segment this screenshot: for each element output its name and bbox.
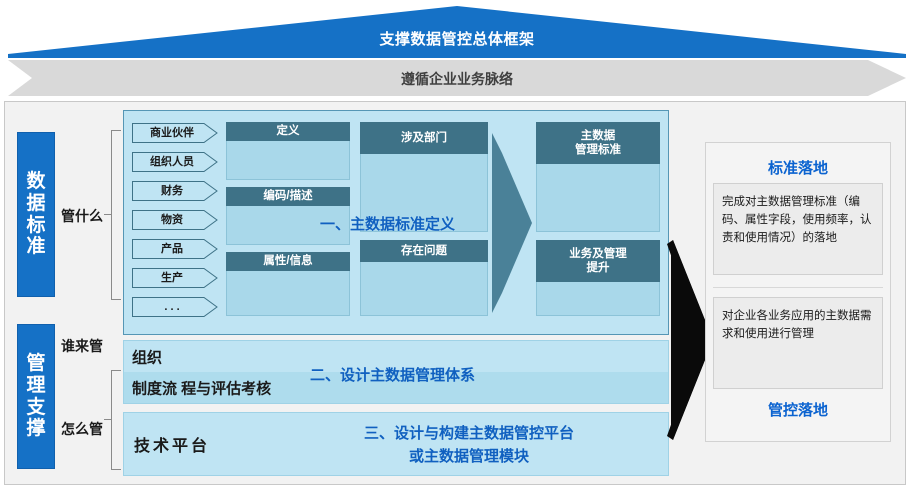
outcome-body-standard: 完成对主数据管理标准（编码、属性字段，使用频率，认责和使用情况）的落地 (713, 183, 883, 275)
block-attribute-info-header: 属性/信息 (226, 252, 350, 271)
overlay-line-2: 或主数据管理模块 (284, 446, 654, 469)
bracket-what (111, 130, 121, 300)
arrow-item[interactable]: 物资 (132, 210, 218, 230)
main-diagram-frame: 数 据 标 准 管 理 支 撑 管什么 谁来管 怎么管 商业伙伴 (4, 101, 906, 485)
tech-platform-label: 技术平台 (134, 432, 210, 456)
blue-triangle-shape (8, 6, 906, 58)
block-header-text: 编码/描述 (263, 189, 312, 203)
block-coding-desc-header: 编码/描述 (226, 187, 350, 206)
arrow-item-label: . . . (132, 297, 212, 317)
section-two-overlay-title: 二、设计主数据管理体系 (310, 364, 475, 385)
question-label-who: 谁来管 (61, 336, 103, 356)
block-header-text: 定义 (277, 124, 300, 138)
band-process-assessment-label: 制度流 程与评估考核 (132, 377, 271, 398)
arrow-item[interactable]: 商业伙伴 (132, 123, 218, 143)
section-one-panel: 商业伙伴 组织人员 财务 物资 (123, 110, 669, 335)
bracket-how (111, 370, 121, 470)
block-header-text: 管理标准 (575, 143, 621, 157)
rail-char: 数 (26, 171, 45, 193)
outcome-title-governance: 管控落地 (706, 399, 890, 420)
outcome-divider (713, 287, 883, 288)
subtitle-banner-text: 遵循企业业务脉络 (8, 69, 906, 89)
arrow-item[interactable]: 组织人员 (132, 152, 218, 172)
rail-char: 理 (26, 375, 45, 397)
block-header-text: 涉及部门 (401, 131, 447, 145)
rail-data-standard: 数 据 标 准 (17, 132, 55, 297)
question-label-what: 管什么 (61, 206, 103, 226)
block-md-standard-header: 主数据 管理标准 (536, 122, 660, 164)
center-column: 商业伙伴 组织人员 财务 物资 (123, 102, 669, 486)
section-three-overlay-title: 三、设计与构建主数据管控平台 或主数据管理模块 (284, 423, 654, 468)
question-label-how: 怎么管 (61, 419, 103, 439)
block-issues-header: 存在问题 (360, 240, 488, 262)
section-three-panel: 技术平台 三、设计与构建主数据管控平台 或主数据管理模块 (123, 412, 669, 476)
block-header-text: 提升 (587, 261, 610, 275)
rail-char: 支 (26, 397, 45, 419)
rail-char: 管 (26, 353, 45, 375)
rail-management-support: 管 理 支 撑 (17, 324, 55, 469)
outcome-panel: 标准落地 完成对主数据管理标准（编码、属性字段，使用频率，认责和使用情况）的落地… (705, 142, 891, 442)
arrow-item-label: 生产 (132, 268, 212, 288)
top-banner-chevron: 支撑数据管控总体框架 (8, 6, 906, 58)
rail-char: 标 (26, 215, 45, 237)
arrow-item-label: 财务 (132, 181, 212, 201)
block-biz-improve-header: 业务及管理 提升 (536, 240, 660, 282)
rail-char: 撑 (26, 418, 45, 440)
band-organization-label: 组织 (132, 346, 162, 367)
overlay-line-1: 三、设计与构建主数据管控平台 (284, 423, 654, 446)
bracket-tick-how (104, 419, 111, 420)
section-two-panel: 组织 制度流 程与评估考核 二、设计主数据管理体系 (123, 340, 669, 404)
block-header-text: 存在问题 (401, 244, 447, 258)
subtitle-banner: 遵循企业业务脉络 (8, 60, 906, 96)
block-definition-header: 定义 (226, 122, 350, 141)
section-one-overlay-title: 一、主数据标准定义 (320, 213, 580, 234)
arrow-item-label: 产品 (132, 239, 212, 259)
block-departments-header: 涉及部门 (360, 122, 488, 154)
arrow-item[interactable]: 财务 (132, 181, 218, 201)
rail-char: 据 (26, 193, 45, 215)
arrow-item-label: 商业伙伴 (132, 123, 212, 143)
rail-char: 准 (26, 236, 45, 258)
outcome-body-governance: 对企业各业务应用的主数据需求和使用进行管理 (713, 297, 883, 389)
block-header-text: 属性/信息 (263, 254, 312, 268)
arrow-item[interactable]: 产品 (132, 239, 218, 259)
arrow-item[interactable]: . . . (132, 297, 218, 317)
bracket-tick-what (104, 214, 111, 215)
block-header-text: 业务及管理 (569, 247, 627, 261)
arrow-item[interactable]: 生产 (132, 268, 218, 288)
block-header-text: 主数据 (581, 129, 616, 143)
outcome-title-standard: 标准落地 (706, 157, 890, 178)
arrow-item-label: 物资 (132, 210, 212, 230)
arrow-item-label: 组织人员 (132, 152, 212, 172)
